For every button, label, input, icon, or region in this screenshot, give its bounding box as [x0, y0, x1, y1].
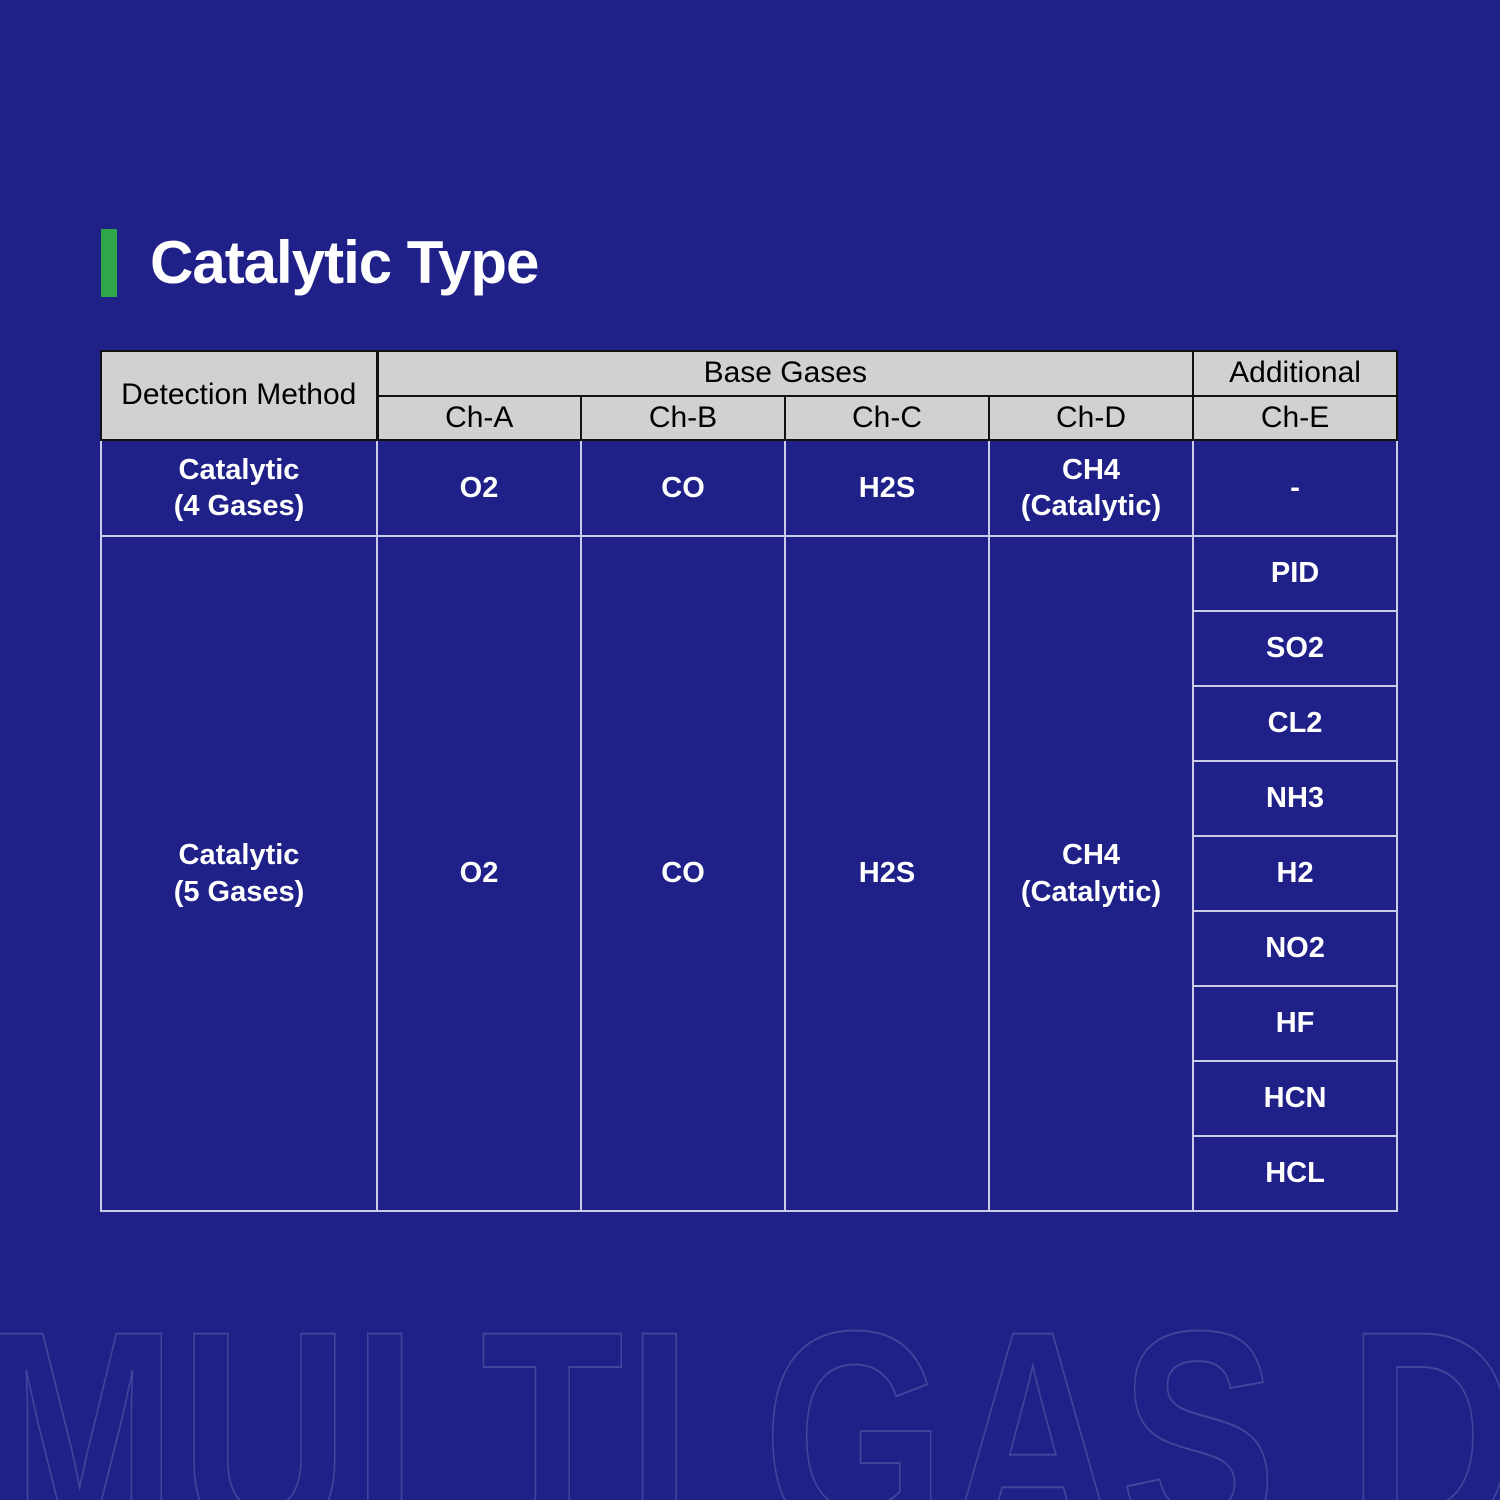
header-additional: Additional [1193, 351, 1397, 396]
cell-method-4gas: Catalytic (4 Gases) [101, 440, 377, 536]
table-row: Catalytic (4 Gases) O2 CO H2S CH4 (Catal… [101, 440, 1397, 536]
header-base-gases: Base Gases [377, 351, 1193, 396]
cell-additional-gas: CL2 [1193, 686, 1397, 761]
method-line-2: (5 Gases) [174, 876, 305, 908]
method-line-1: Catalytic [179, 454, 300, 486]
cell-additional-gas: PID [1193, 536, 1397, 611]
gas-detection-table: Detection Method Base Gases Additional C… [100, 350, 1396, 1212]
method-line-1: Catalytic [179, 839, 300, 871]
cell-ch-c-4gas: H2S [785, 440, 989, 536]
watermark-text: MULTI GAS DE [0, 1286, 1246, 1500]
cell-additional-gas: HCL [1193, 1136, 1397, 1211]
ch-d-line-1: CH4 [1062, 839, 1120, 871]
ch-d-line-1: CH4 [1062, 454, 1120, 486]
page-title: Catalytic Type [101, 229, 538, 297]
cell-ch-b-4gas: CO [581, 440, 785, 536]
cell-ch-b-5gas: CO [581, 536, 785, 1211]
cell-ch-d-5gas: CH4 (Catalytic) [989, 536, 1193, 1211]
cell-additional-gas: NH3 [1193, 761, 1397, 836]
header-channel-c: Ch-C [785, 396, 989, 441]
cell-additional-gas: SO2 [1193, 611, 1397, 686]
header-channel-e: Ch-E [1193, 396, 1397, 441]
cell-additional-gas: NO2 [1193, 911, 1397, 986]
table-header-row-1: Detection Method Base Gases Additional [101, 351, 1397, 396]
cell-additional-gas: HCN [1193, 1061, 1397, 1136]
cell-ch-e-4gas: - [1193, 440, 1397, 536]
title-accent-bar [101, 229, 117, 297]
table-row: Catalytic (5 Gases) O2 CO H2S CH4 (Catal… [101, 536, 1397, 611]
ch-d-line-2: (Catalytic) [1021, 490, 1161, 522]
page-title-label: Catalytic Type [150, 233, 538, 293]
cell-ch-a-4gas: O2 [377, 440, 581, 536]
cell-additional-gas: HF [1193, 986, 1397, 1061]
header-channel-b: Ch-B [581, 396, 785, 441]
cell-ch-c-5gas: H2S [785, 536, 989, 1211]
cell-ch-d-4gas: CH4 (Catalytic) [989, 440, 1193, 536]
method-line-2: (4 Gases) [174, 490, 305, 522]
ch-d-line-2: (Catalytic) [1021, 876, 1161, 908]
header-detection-method: Detection Method [101, 351, 377, 440]
cell-ch-a-5gas: O2 [377, 536, 581, 1211]
header-channel-d: Ch-D [989, 396, 1193, 441]
cell-method-5gas: Catalytic (5 Gases) [101, 536, 377, 1211]
cell-additional-gas: H2 [1193, 836, 1397, 911]
header-channel-a: Ch-A [377, 396, 581, 441]
